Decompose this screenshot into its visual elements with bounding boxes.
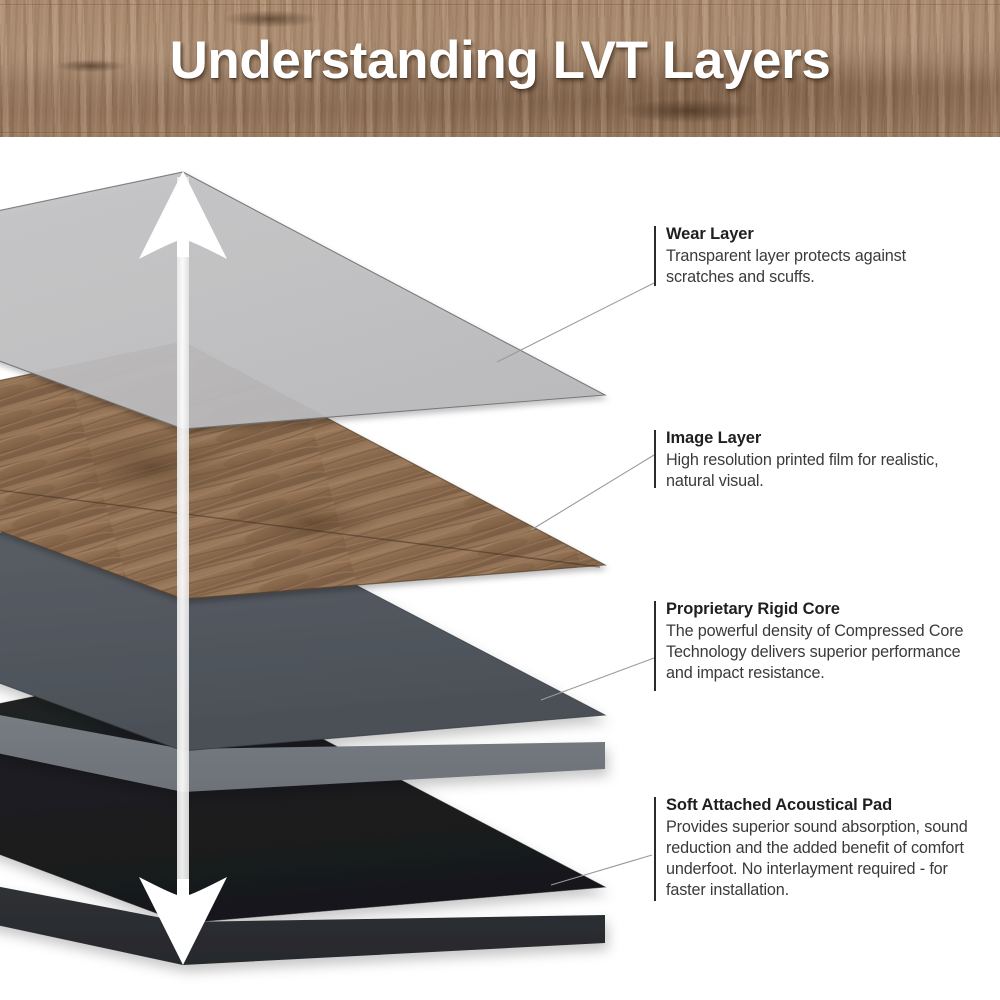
- page-title: Understanding LVT Layers: [0, 30, 1000, 91]
- arrow-shaft: [177, 177, 189, 937]
- header-wood-banner: Understanding LVT Layers: [0, 0, 1000, 137]
- callout-title: Image Layer: [666, 428, 978, 449]
- plank-seam: [0, 4, 1000, 6]
- callout-body: Transparent layer protects against scrat…: [666, 246, 978, 288]
- infographic-page: Understanding LVT Layers: [0, 0, 1000, 1000]
- callout-body: Provides superior sound absorption, soun…: [666, 817, 978, 901]
- callout-rule: [654, 430, 656, 488]
- image-layer-knot: [55, 431, 245, 503]
- callout-body: High resolution printed film for realist…: [666, 450, 978, 492]
- leader-line-image: [531, 455, 654, 530]
- wood-knot: [600, 96, 780, 126]
- callout-image-layer: Image Layer High resolution printed film…: [666, 428, 978, 492]
- callout-rule: [654, 601, 656, 691]
- callout-title: Proprietary Rigid Core: [666, 599, 978, 620]
- callout-title: Soft Attached Acoustical Pad: [666, 795, 978, 816]
- wear-layer-face: [0, 172, 605, 429]
- callout-title: Wear Layer: [666, 224, 978, 245]
- image-layer-knot: [240, 498, 380, 546]
- callout-rigid-core: Proprietary Rigid Core The powerful dens…: [666, 599, 978, 684]
- callout-rule: [654, 226, 656, 286]
- callout-wear-layer: Wear Layer Transparent layer protects ag…: [666, 224, 978, 288]
- leader-line-rigid-core: [541, 658, 654, 700]
- callout-rule: [654, 797, 656, 901]
- callout-body: The powerful density of Compressed Core …: [666, 621, 978, 684]
- layer-wear: [0, 172, 605, 429]
- wood-knot: [210, 8, 330, 30]
- leader-line-wear: [497, 283, 654, 362]
- plank-seam: [0, 132, 1000, 134]
- callout-acoustical-pad: Soft Attached Acoustical Pad Provides su…: [666, 795, 978, 901]
